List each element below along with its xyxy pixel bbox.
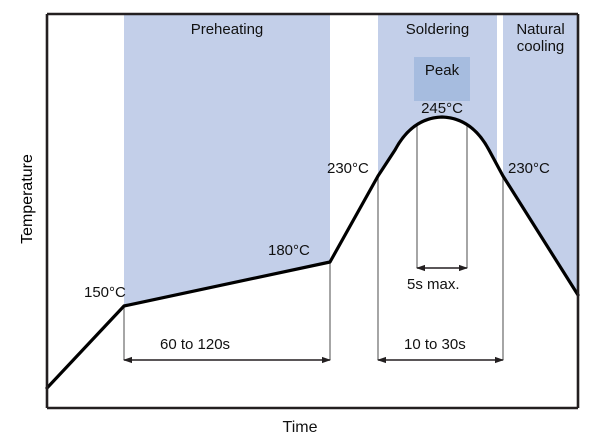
temperature-label-230-right: 230°C (508, 161, 550, 178)
duration-label-soldering: 10 to 30s (404, 337, 466, 354)
duration-label-preheating: 60 to 120s (160, 337, 230, 354)
y-axis-title: Temperature (19, 109, 37, 289)
temperature-label-150: 150°C (84, 285, 126, 302)
temperature-label-peak-245: 245°C (406, 101, 478, 118)
duration-label-peak: 5s max. (407, 277, 460, 294)
chart-canvas (0, 0, 600, 442)
band-label-preheating: Preheating (124, 22, 330, 39)
band-label-soldering: Soldering (378, 22, 497, 39)
band-label-natural-cooling: Natural cooling (503, 22, 578, 56)
reflow-profile-chart: Preheating Soldering Natural cooling Pea… (0, 0, 600, 442)
temperature-label-230-left: 230°C (327, 161, 369, 178)
x-axis-title: Time (0, 419, 600, 437)
band-label-peak: Peak (414, 63, 470, 80)
temperature-label-180: 180°C (268, 243, 310, 260)
